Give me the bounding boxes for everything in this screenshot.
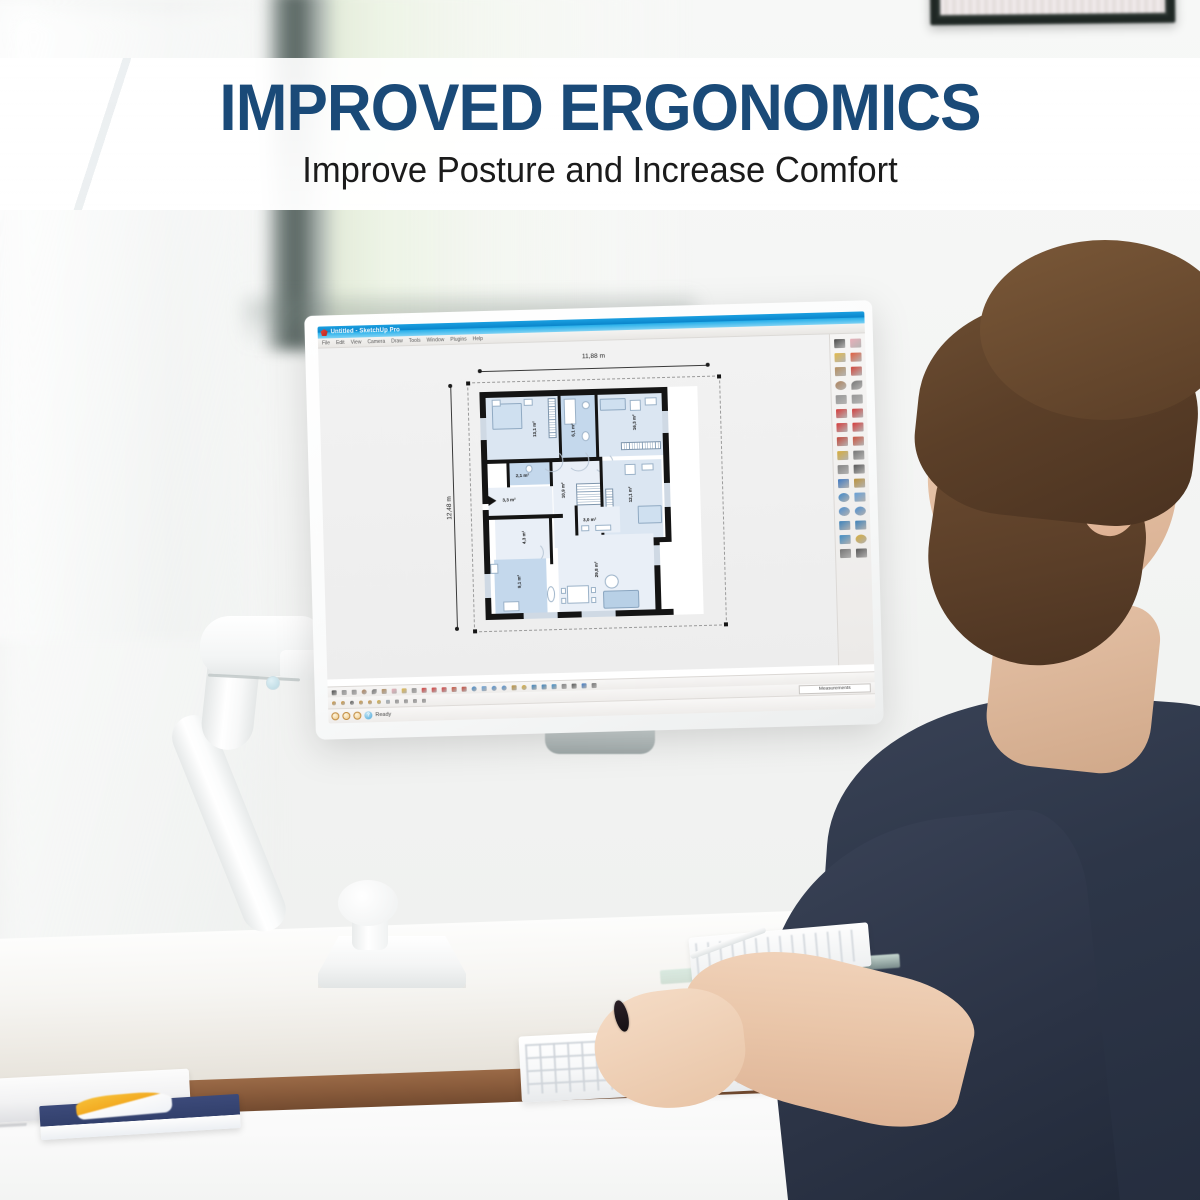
status-text: Ready bbox=[375, 712, 391, 718]
dimension-top: 11,88 m bbox=[478, 352, 708, 374]
look-around-icon[interactable] bbox=[540, 682, 549, 691]
page-subheadline: Improve Posture and Increase Comfort bbox=[24, 152, 1176, 188]
orbit-icon[interactable] bbox=[470, 684, 479, 693]
furniture-plant bbox=[547, 586, 555, 602]
line-icon[interactable] bbox=[340, 687, 349, 696]
monitor-arm-elbow-joint[interactable] bbox=[338, 880, 398, 926]
floor-plan-drawing[interactable]: 13,1 m² 6,1 m² bbox=[479, 386, 703, 620]
wardrobe-bedroom-2 bbox=[621, 441, 661, 450]
room-label-bedroom-2: 16,3 m² bbox=[631, 414, 636, 430]
erase-guides-icon[interactable] bbox=[420, 696, 428, 704]
furniture-nightstand bbox=[524, 399, 533, 406]
wall-interior bbox=[506, 463, 510, 487]
dimension-top-line bbox=[479, 365, 709, 372]
menu-item-camera[interactable]: Camera bbox=[367, 338, 385, 344]
furniture-washer bbox=[581, 525, 589, 531]
question-mark-icon[interactable]: ? bbox=[364, 711, 372, 719]
room-label-bedroom-1: 13,1 m² bbox=[532, 421, 537, 437]
sketchup-logo-icon bbox=[321, 329, 328, 336]
furniture-nightstand bbox=[492, 400, 501, 407]
room-label-entry: 3,3 m² bbox=[502, 497, 515, 502]
room-label-kitchen: 9,1 m² bbox=[517, 575, 522, 588]
furniture-cabinets bbox=[503, 601, 519, 611]
dimension-icon[interactable] bbox=[559, 681, 568, 690]
soften-edges-icon[interactable] bbox=[402, 697, 410, 705]
style-texture-icon[interactable] bbox=[348, 698, 356, 706]
scale-icon[interactable] bbox=[440, 685, 449, 694]
section-plane-icon[interactable] bbox=[510, 683, 519, 692]
menu-item-edit[interactable]: Edit bbox=[336, 339, 345, 345]
window-opening bbox=[480, 418, 487, 440]
window-opening bbox=[582, 610, 616, 617]
hidden-geometry-icon[interactable] bbox=[411, 696, 419, 704]
zoom-extents-icon[interactable] bbox=[331, 712, 339, 720]
wall-interior bbox=[549, 518, 553, 564]
furniture-desk bbox=[641, 463, 653, 470]
menu-item-draw[interactable]: Draw bbox=[391, 338, 403, 344]
menu-item-file[interactable]: File bbox=[322, 340, 330, 346]
rectangle-icon[interactable] bbox=[350, 687, 359, 696]
room-label-bedroom-3: 12,1 m² bbox=[628, 486, 633, 502]
shadow-icon[interactable] bbox=[520, 682, 529, 691]
furniture-bathtub bbox=[564, 398, 577, 424]
person-arm-group bbox=[780, 300, 1200, 1200]
dimension-left-label: 12,48 m bbox=[446, 496, 454, 520]
entry-arrow-icon bbox=[488, 496, 496, 506]
room-label-bathroom: 6,1 m² bbox=[570, 423, 575, 436]
text-icon[interactable] bbox=[569, 681, 578, 690]
wardrobe-bedroom-1 bbox=[548, 398, 557, 438]
menu-item-tools[interactable]: Tools bbox=[409, 337, 421, 343]
menu-item-plugins[interactable]: Plugins bbox=[450, 336, 467, 342]
room-label-pantry: 4,3 m² bbox=[521, 531, 526, 544]
monitor-arm-base bbox=[318, 936, 466, 988]
fog-icon[interactable] bbox=[384, 697, 392, 705]
furniture-armchair bbox=[630, 400, 641, 411]
furniture-chair bbox=[561, 598, 566, 604]
wall-step-right bbox=[654, 537, 672, 543]
shadow-sun-icon[interactable] bbox=[375, 697, 383, 705]
style-face-icon[interactable] bbox=[330, 699, 338, 707]
window-title: Untitled - SketchUp Pro bbox=[331, 327, 400, 335]
furniture-chair bbox=[591, 597, 596, 603]
pan-icon[interactable] bbox=[353, 712, 361, 720]
furniture-armchair bbox=[624, 464, 635, 475]
dimension-left: 12,48 m bbox=[437, 385, 460, 630]
furniture-chair bbox=[561, 588, 566, 594]
furniture-chair bbox=[591, 587, 596, 593]
selection-grip[interactable] bbox=[724, 622, 728, 626]
protractor-icon[interactable] bbox=[589, 680, 598, 689]
window-opening bbox=[524, 612, 558, 619]
eraser-icon[interactable] bbox=[390, 686, 399, 695]
window-opening bbox=[662, 411, 669, 433]
furniture-sofa bbox=[603, 590, 639, 609]
furniture-desk bbox=[645, 397, 657, 405]
window-opening bbox=[664, 483, 671, 507]
offset-icon[interactable] bbox=[450, 684, 459, 693]
followme-icon[interactable] bbox=[460, 684, 469, 693]
room-label-living: 29,8 m² bbox=[594, 561, 599, 577]
floor-plan-area[interactable]: 11,88 m 12,48 m bbox=[318, 334, 838, 679]
zoom-extents-icon[interactable] bbox=[500, 683, 509, 692]
furniture-bed bbox=[638, 505, 662, 524]
room-entry[interactable] bbox=[488, 486, 553, 516]
selection-grip[interactable] bbox=[473, 629, 477, 633]
selection-grip[interactable] bbox=[717, 374, 721, 378]
room-label-wc: 2,1 m² bbox=[516, 473, 529, 478]
furniture-bed bbox=[600, 398, 626, 411]
zoom-icon[interactable] bbox=[490, 683, 499, 692]
scene-root: Untitled - SketchUp Pro File Edit View C… bbox=[0, 0, 1200, 1200]
style-xray-icon[interactable] bbox=[357, 698, 365, 706]
move-icon[interactable] bbox=[420, 685, 429, 694]
select-arrow-icon[interactable] bbox=[330, 688, 339, 697]
material-icon[interactable] bbox=[410, 685, 419, 694]
page-headline: IMPROVED ERGONOMICS bbox=[36, 74, 1164, 140]
furniture-bed bbox=[492, 403, 523, 430]
circle-icon[interactable] bbox=[360, 687, 369, 696]
window-opening bbox=[654, 545, 661, 565]
furniture-stove bbox=[490, 564, 498, 574]
style-shaded-icon[interactable] bbox=[339, 698, 347, 706]
furniture-dining-table bbox=[567, 585, 589, 604]
staircase bbox=[576, 483, 603, 506]
info-icon[interactable] bbox=[342, 712, 350, 720]
rotate-icon[interactable] bbox=[430, 685, 439, 694]
room-label-hall: 10,9 m² bbox=[560, 482, 565, 498]
paint-bucket-icon[interactable] bbox=[400, 686, 409, 695]
push-pull-icon[interactable] bbox=[380, 686, 389, 695]
wall-picture-frame bbox=[930, 0, 1176, 25]
room-label-utility: 3,0 m² bbox=[583, 517, 596, 522]
menu-item-window[interactable]: Window bbox=[426, 337, 444, 343]
pan-icon[interactable] bbox=[480, 684, 489, 693]
selection-grip[interactable] bbox=[466, 381, 470, 385]
axes-icon[interactable] bbox=[579, 681, 588, 690]
menu-item-view[interactable]: View bbox=[351, 339, 362, 345]
menu-item-help[interactable]: Help bbox=[473, 336, 483, 342]
position-camera-icon[interactable] bbox=[550, 682, 559, 691]
walk-icon[interactable] bbox=[530, 682, 539, 691]
arc-icon[interactable] bbox=[370, 687, 379, 696]
layers-icon[interactable] bbox=[393, 697, 401, 705]
dimension-top-label: 11,88 m bbox=[582, 353, 605, 361]
furniture-counter bbox=[595, 525, 611, 531]
window-opening bbox=[484, 574, 491, 598]
monitor-arm-adjust-knob[interactable] bbox=[266, 676, 280, 690]
style-monochrome-icon[interactable] bbox=[366, 698, 374, 706]
